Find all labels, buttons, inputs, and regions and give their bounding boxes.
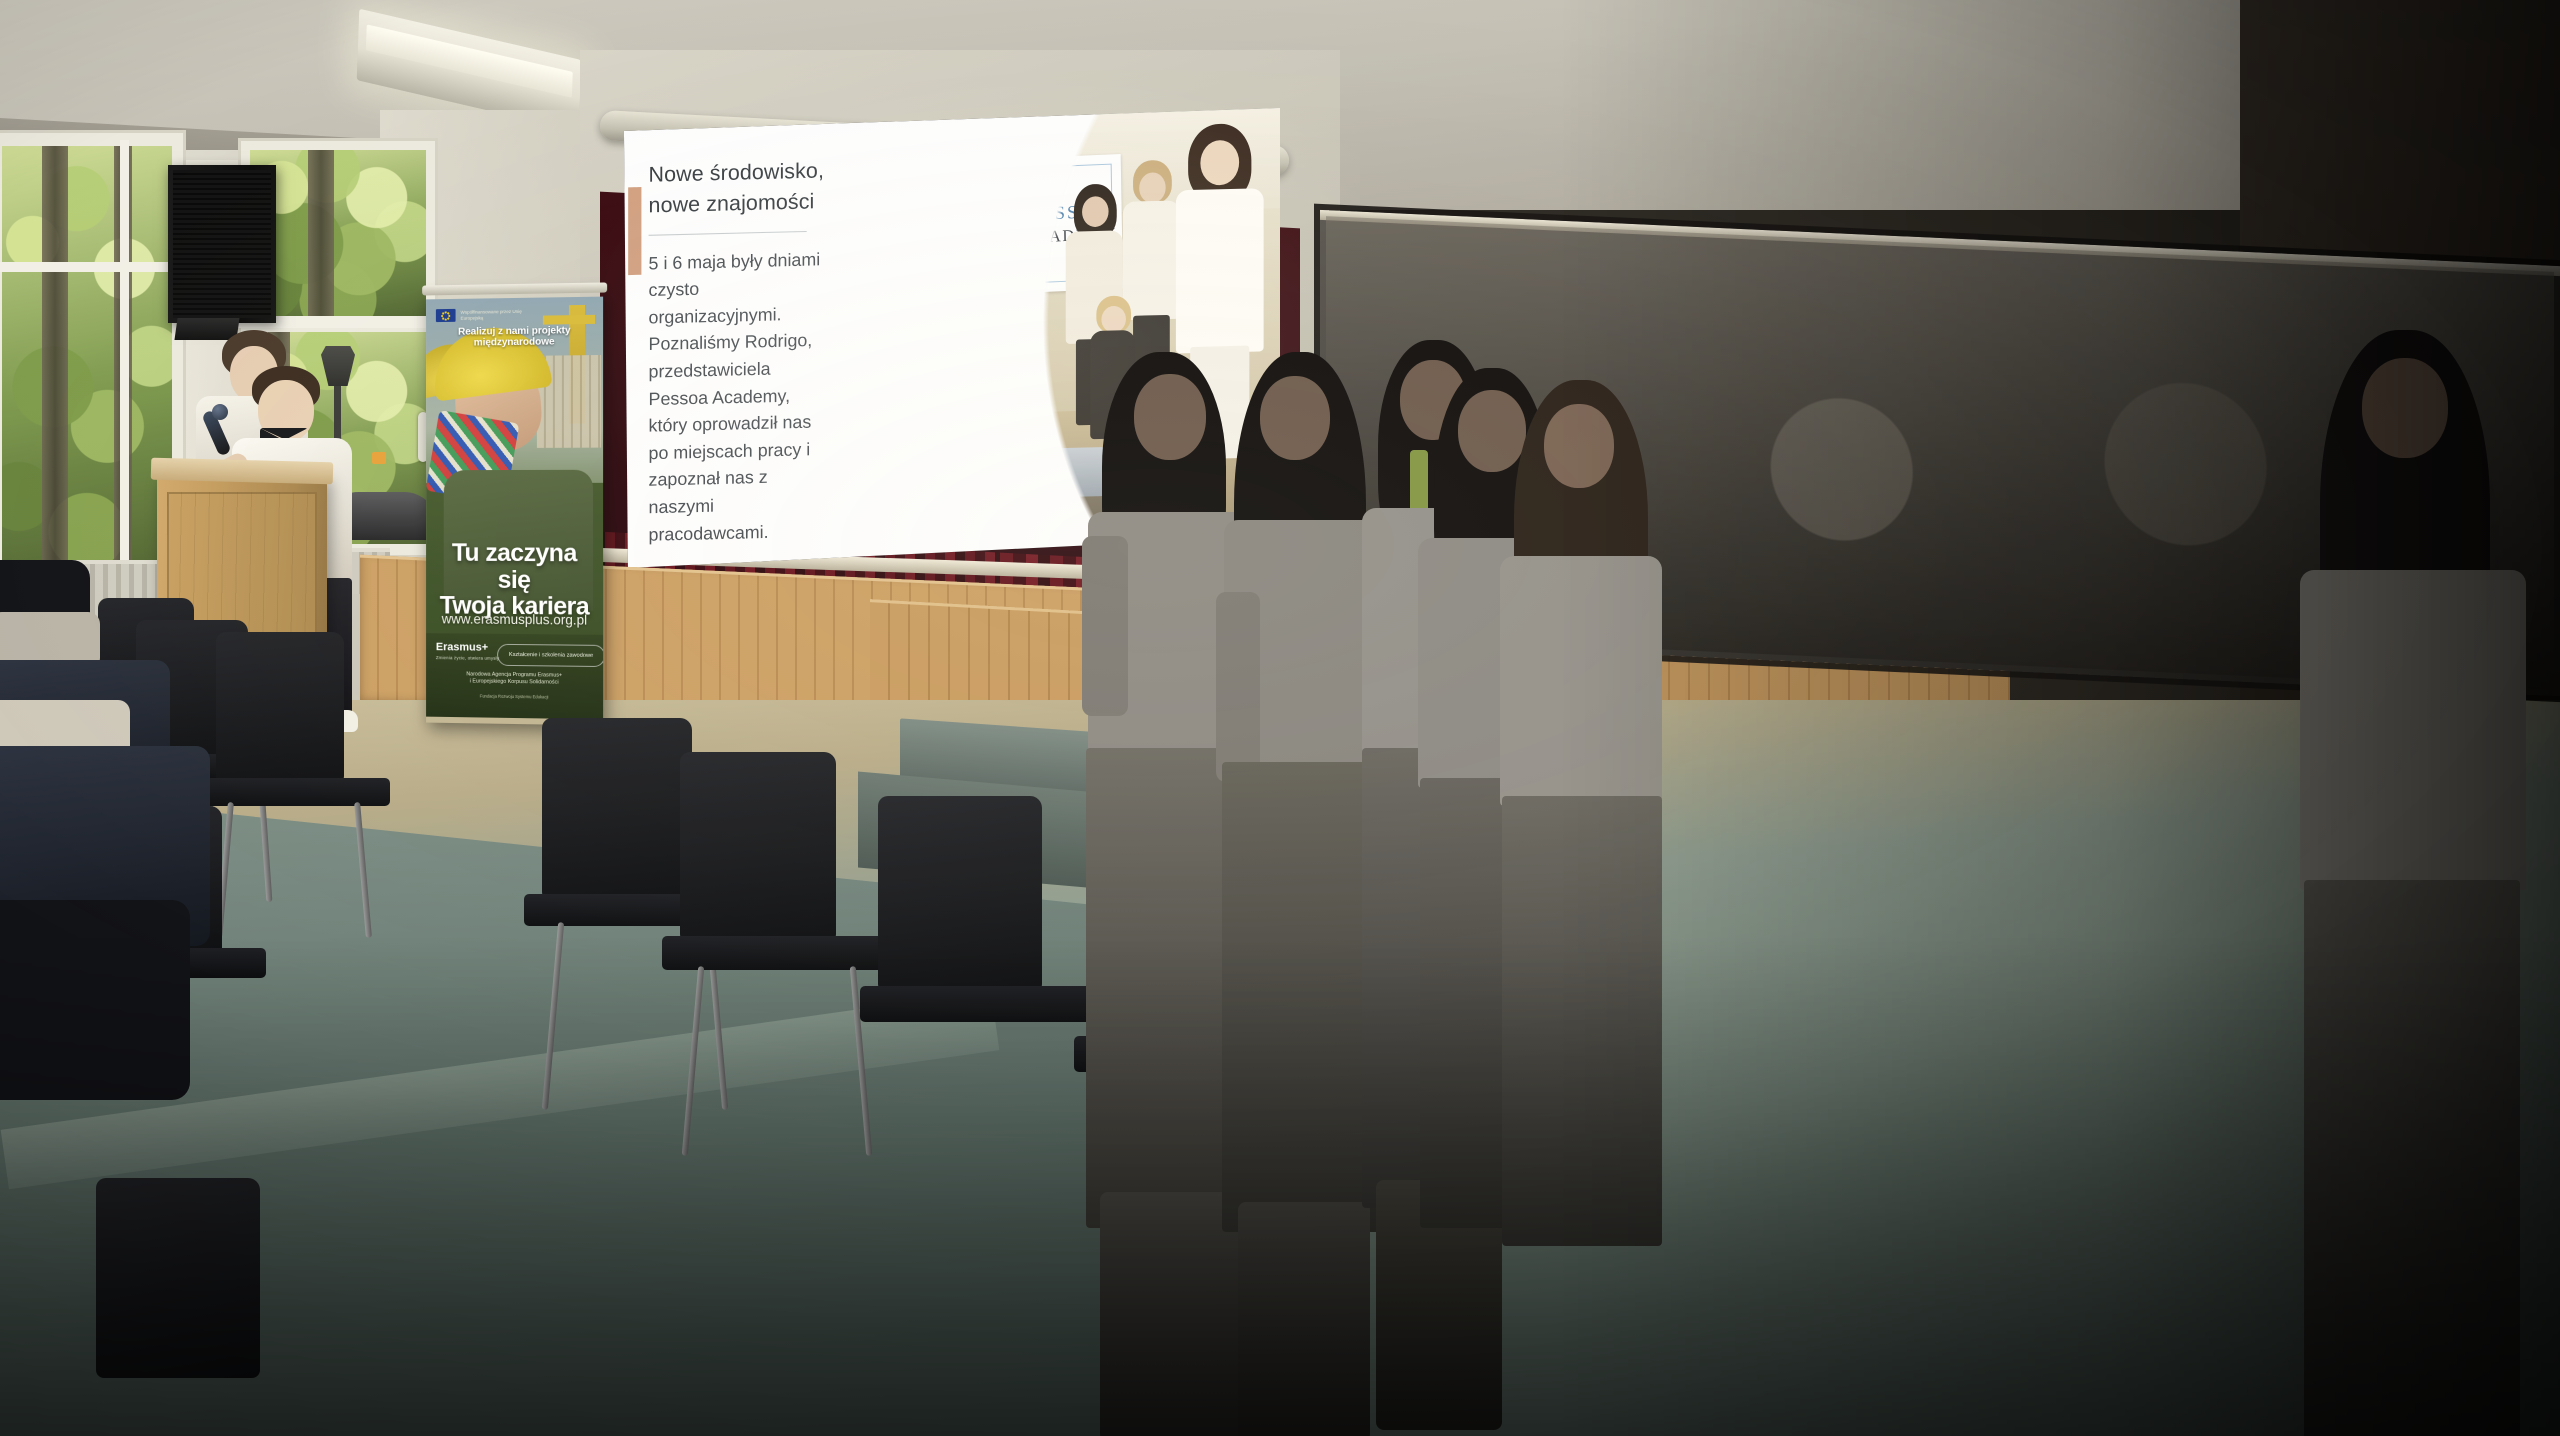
torso: [999, 234, 1042, 321]
legs: [1006, 316, 1037, 402]
skirt: [2304, 880, 2520, 1436]
banner-crane-arm: [543, 315, 595, 325]
skirt: [1502, 796, 1662, 1246]
student-standing: [2290, 330, 2530, 1436]
banner-sector-pill: Kształcenie i szkolenia zawodowe: [497, 644, 603, 667]
rollup-top-cap: [422, 282, 607, 295]
audience-lower: [0, 900, 190, 1100]
tshirt: [1500, 556, 1662, 806]
corridor-person: [998, 200, 1043, 403]
corridor-person: [933, 173, 974, 378]
chair-seat: [860, 986, 1104, 1022]
erasmus-logo-subtitle: Zmienia życie, otwiera umysły: [436, 655, 499, 661]
banner-agency: Narodowa Agencja Programu Erasmus+ i Eur…: [438, 671, 591, 687]
arm: [1082, 536, 1128, 716]
banner-slogan-line1: Tu zaczyna się: [434, 540, 595, 594]
slide-text-column: Nowe środowisko, nowe znajomości 5 i 6 m…: [649, 156, 833, 548]
eu-flag-icon: [436, 309, 456, 322]
window-view-foliage: [2, 146, 172, 584]
legs: [901, 274, 932, 356]
exit-sign-icon: [941, 153, 963, 165]
chair-back: [680, 752, 836, 942]
window-mullion: [120, 140, 129, 590]
rollup-graphic: Współfinansowane przez Unię Europejską R…: [426, 297, 603, 720]
banner-slogan: Tu zaczyna się Twoja kariera: [434, 540, 595, 620]
microphone-head: [212, 404, 228, 420]
window-mid-upper: [250, 150, 426, 320]
head: [1544, 404, 1614, 488]
slide-heading: Nowe środowisko, nowe znajomości: [649, 156, 833, 221]
chair[interactable]: [86, 1178, 346, 1436]
tree-trunk: [308, 150, 334, 320]
banner-fine-print: Fundacja Rozwoju Systemu Edukacji: [438, 693, 591, 700]
audience-member: [0, 700, 240, 1100]
chair-seat: [662, 936, 892, 970]
arm: [1216, 592, 1260, 782]
legs: [854, 358, 895, 453]
window-mullion: [0, 262, 184, 272]
chair-back: [96, 1178, 260, 1378]
banner-footer: Erasmus+ Zmienia życie, otwiera umysły K…: [426, 633, 603, 719]
window-view-foliage: [250, 150, 426, 320]
student-standing: [1496, 380, 1668, 1436]
head: [1134, 374, 1206, 460]
torso: [1176, 188, 1264, 353]
chair-leg: [682, 966, 705, 1156]
slide-accent-bar: [628, 187, 641, 275]
chair-leg: [542, 922, 564, 1110]
speaker-grill: [173, 170, 271, 318]
chair-back: [878, 796, 1042, 992]
banner-agency-line2: i Europejskiego Korpusu Solidarności: [438, 678, 591, 687]
head: [1260, 376, 1330, 460]
erasmus-rollup-banner: Współfinansowane przez Unię Europejską R…: [426, 291, 603, 726]
torso: [933, 207, 974, 300]
erasmus-logo: Erasmus+: [436, 641, 488, 654]
eu-funding-text: Współfinansowane przez Unię Europejską: [461, 309, 546, 321]
chair-leg: [354, 802, 372, 938]
legs: [1238, 1202, 1370, 1436]
slide-body-text: 5 i 6 maja były dniami czysto organizacy…: [649, 245, 833, 548]
speaker-icon: [168, 165, 276, 323]
banner-headline: Realizuj z nami projekty międzynarodowe: [434, 325, 595, 349]
legs: [940, 295, 967, 377]
street-sign: [372, 452, 386, 464]
tree-trunk: [42, 146, 68, 584]
window-left: [2, 146, 172, 584]
slide-divider: [649, 231, 807, 236]
tshirt: [2300, 570, 2526, 890]
head: [2362, 358, 2448, 458]
eu-funding-badge: Współfinansowane przez Unię Europejską: [436, 308, 546, 323]
auditorium-scene: PESSOA ACADEMY: [0, 0, 2560, 1436]
sofa-cushion: [976, 449, 1039, 500]
banner-url: www.erasmusplus.org.pl: [434, 611, 595, 627]
